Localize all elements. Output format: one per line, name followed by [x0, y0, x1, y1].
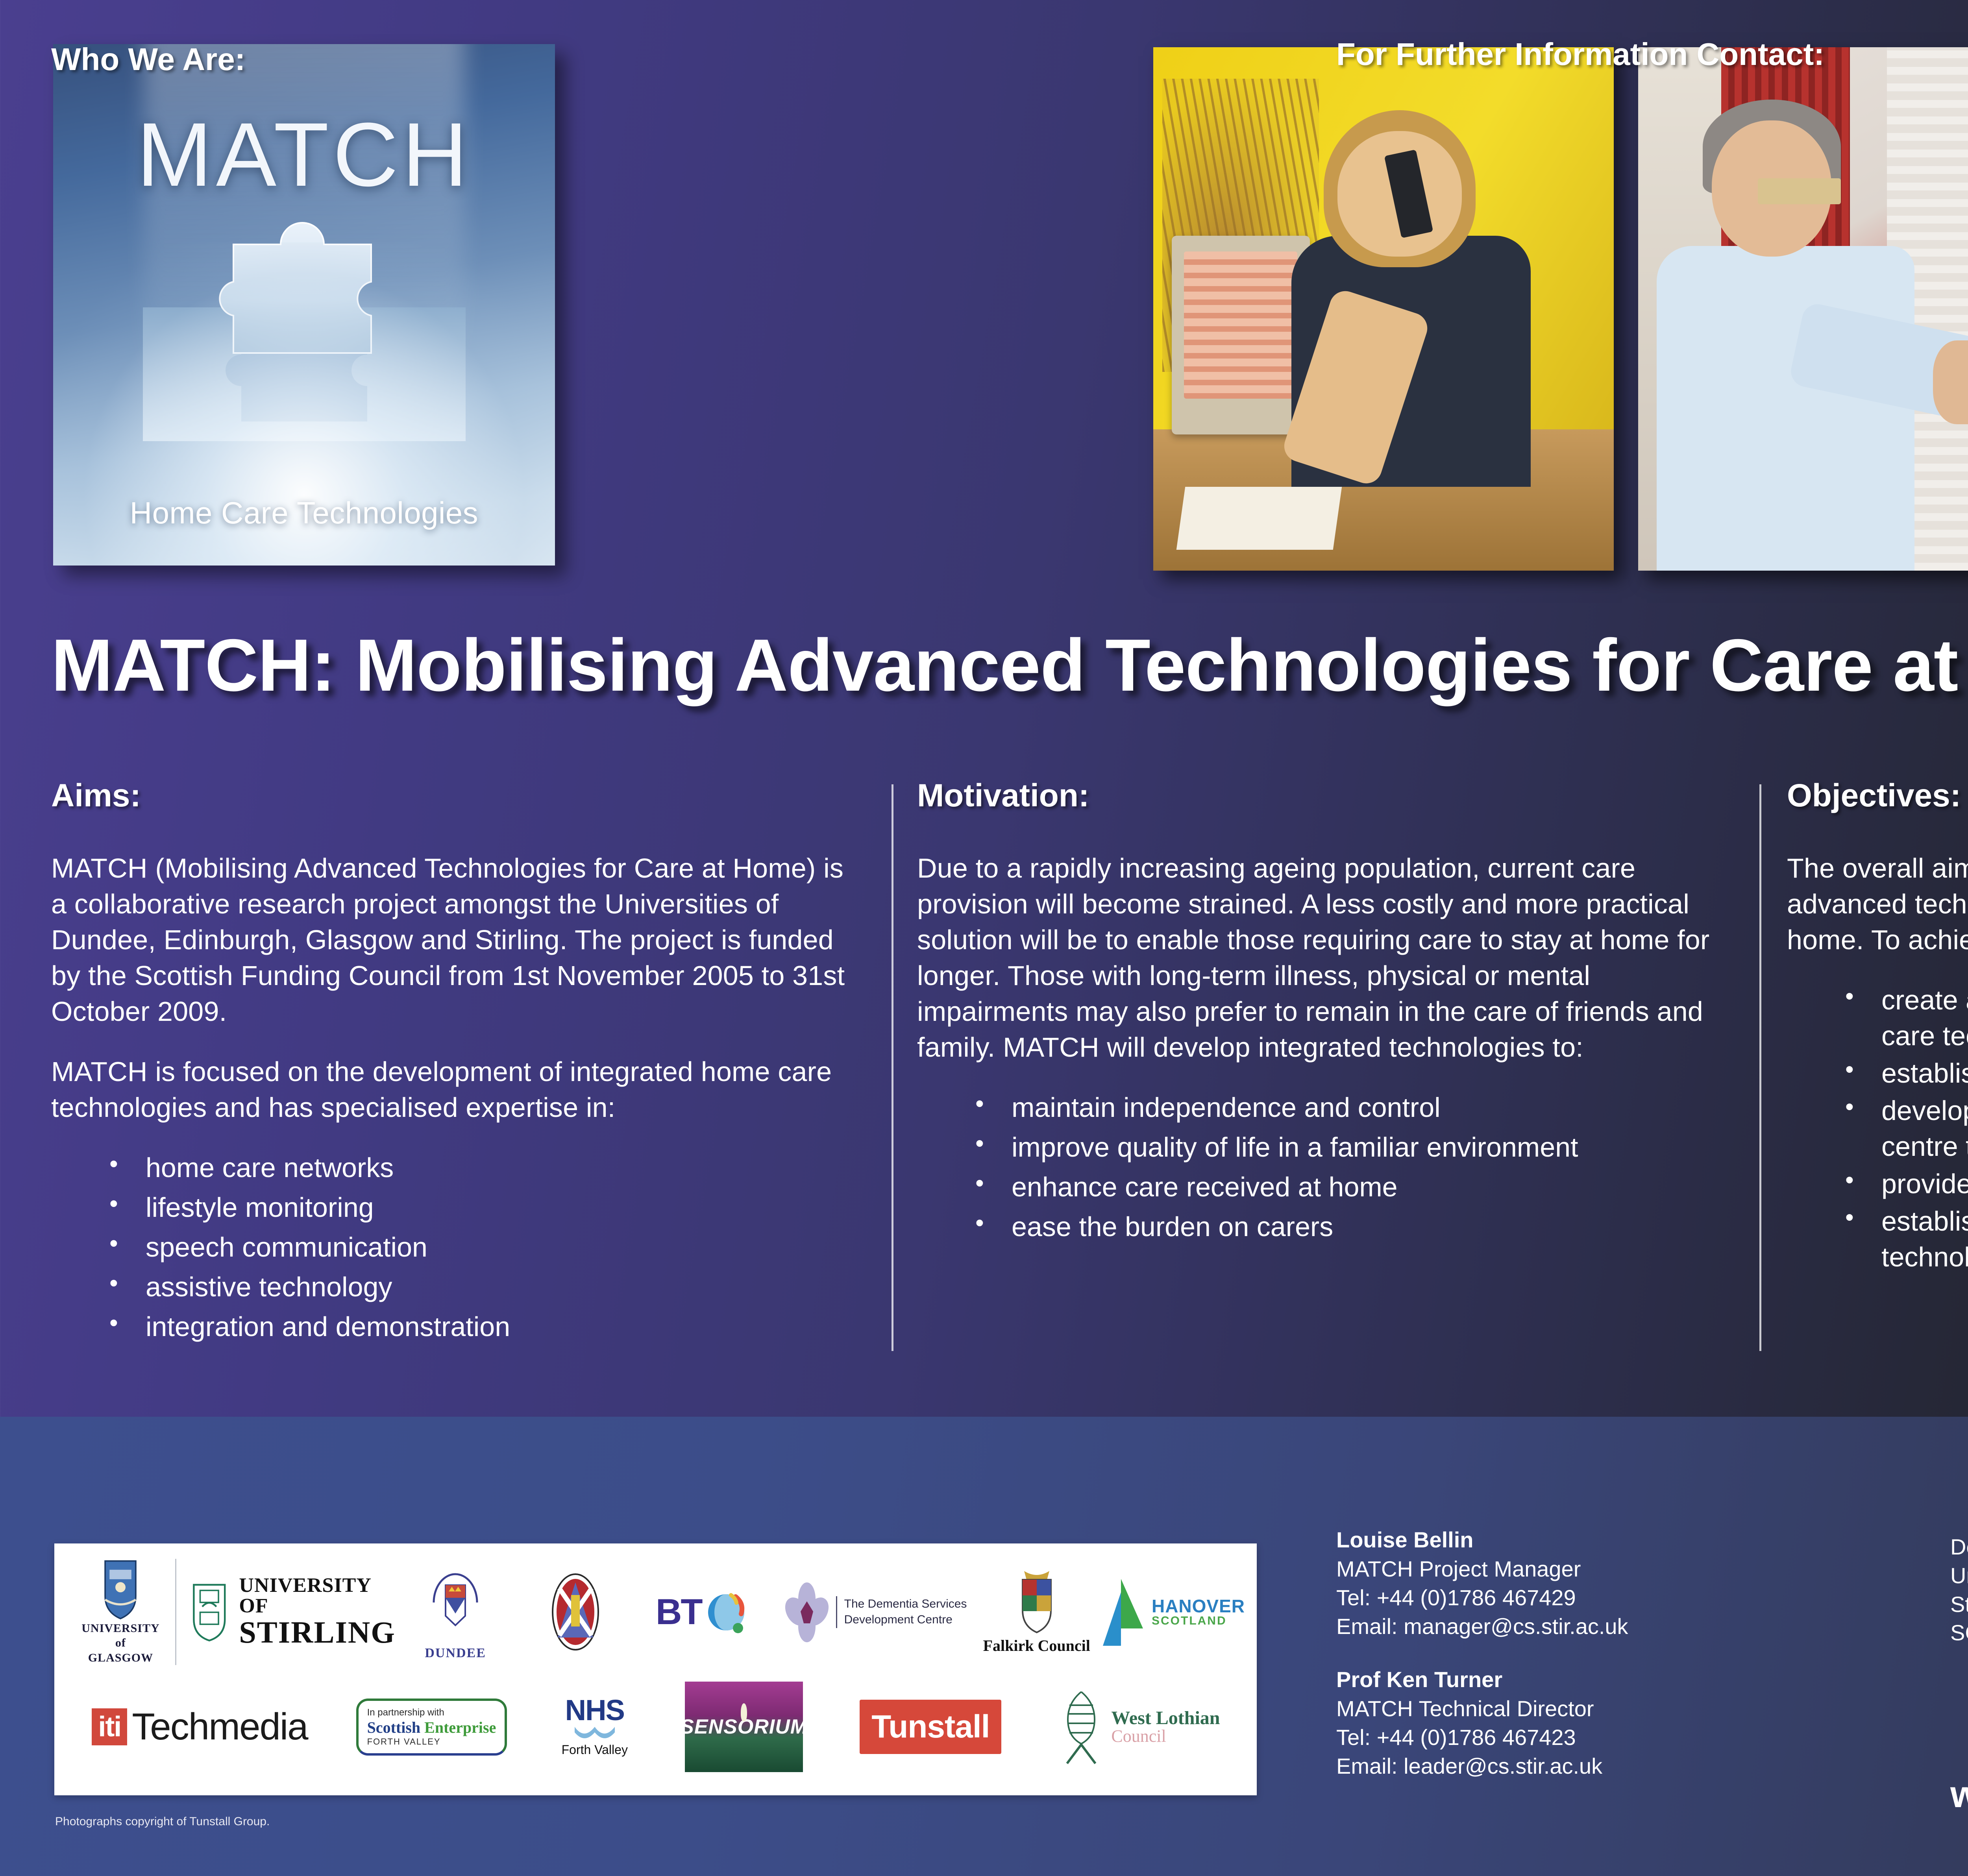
objectives-bullet-list: create a Scottish centre of excellence i…	[1787, 982, 1968, 1275]
contact-person-2: Prof Ken Turner MATCH Technical Director…	[1336, 1667, 1919, 1780]
contact-2-role: MATCH Technical Director	[1336, 1695, 1919, 1723]
university-of-stirling-logo: UNIVERSITY OF STIRLING	[175, 1559, 396, 1665]
dsdc-line-1: The Dementia Services	[844, 1596, 967, 1612]
hanover-line-1: HANOVER	[1152, 1597, 1245, 1615]
bt-globe-icon	[702, 1586, 753, 1638]
objectives-bullet: develop specialised laboratories and a d…	[1787, 1093, 1968, 1164]
contact-2-email[interactable]: Email: leader@cs.stir.ac.uk	[1336, 1752, 1919, 1781]
project-website-url[interactable]: www.match-project.org.uk	[1950, 1773, 1968, 1816]
logo-title: MATCH	[53, 102, 555, 207]
column-divider-1	[892, 784, 893, 1351]
address-line-2: University of Stirling,	[1950, 1562, 1968, 1590]
address-line-1: Department of Computing Science and Math…	[1950, 1533, 1968, 1562]
photo-elderly-man-wall-unit	[1638, 47, 1968, 571]
se-line-1: In partnership with	[367, 1707, 496, 1718]
contact-1-name: Louise Bellin	[1336, 1527, 1919, 1553]
aims-bullet: lifestyle monitoring	[51, 1190, 862, 1225]
photo-credit-text: Photographs copyright of Tunstall Group.	[55, 1815, 270, 1828]
objectives-paragraph-1: The overall aim is to develop an integra…	[1787, 850, 1968, 958]
glasgow-line-3: GLASGOW	[81, 1651, 159, 1665]
aims-bullet: integration and demonstration	[51, 1309, 862, 1345]
objectives-bullet: establish care models for appropriate an…	[1787, 1203, 1968, 1275]
aims-bullet: home care networks	[51, 1150, 862, 1186]
university-of-edinburgh-logo	[515, 1559, 635, 1665]
aims-heading: Aims:	[51, 777, 862, 814]
partner-logos-row-2: iti Techmedia In partnership with Scotti…	[66, 1674, 1245, 1780]
poster-canvas: MATCH Home Care Technologies	[0, 0, 1968, 1876]
se-line-3: Enterprise	[424, 1719, 496, 1736]
contact-people: Louise Bellin MATCH Project Manager Tel:…	[1336, 1527, 1919, 1807]
bt-wordmark: BT	[656, 1591, 702, 1633]
nhs-sub: Forth Valley	[562, 1743, 628, 1757]
dsdc-line-2: Development Centre	[844, 1612, 967, 1628]
falkirk-crest-icon	[1013, 1569, 1060, 1636]
university-of-dundee-logo: DUNDEE	[396, 1559, 516, 1665]
motivation-heading: Motivation:	[917, 777, 1734, 814]
hanover-mark-icon	[1097, 1577, 1148, 1647]
dundee-crest-icon	[426, 1563, 485, 1646]
contact-1-email[interactable]: Email: manager@cs.stir.ac.uk	[1336, 1612, 1919, 1641]
photo-strip	[1153, 47, 1968, 571]
tunstall-wordmark: Tunstall	[871, 1709, 990, 1745]
scottish-enterprise-forth-valley-logo: In partnership with Scottish Enterprise …	[333, 1674, 530, 1780]
falkirk-label: Falkirk Council	[983, 1636, 1090, 1655]
se-line-2: Scottish	[367, 1719, 421, 1736]
column-aims: Aims: MATCH (Mobilising Advanced Technol…	[51, 777, 862, 1349]
tunstall-logo: Tunstall	[829, 1674, 1033, 1780]
hanover-scotland-logo: HANOVER SCOTLAND	[1097, 1559, 1245, 1665]
who-we-are-heading: Who We Are:	[51, 41, 245, 78]
iti-techmedia-logo: iti Techmedia	[66, 1674, 333, 1780]
glasgow-line-1: UNIVERSITY	[81, 1621, 159, 1636]
nhs-wave-icon	[573, 1724, 616, 1743]
contact-heading: For Further Information Contact:	[1336, 36, 1824, 72]
se-line-4: FORTH VALLEY	[367, 1737, 496, 1747]
west-lothian-mark-icon	[1058, 1689, 1105, 1764]
contact-1-role: MATCH Project Manager	[1336, 1555, 1919, 1584]
stirling-line-1: UNIVERSITY OF	[239, 1575, 395, 1616]
university-of-glasgow-logo: UNIVERSITY of GLASGOW	[66, 1559, 175, 1665]
hanover-line-2: SCOTLAND	[1152, 1615, 1245, 1627]
nhs-wordmark: NHS	[565, 1697, 624, 1724]
motivation-paragraph-1: Due to a rapidly increasing ageing popul…	[917, 850, 1734, 1065]
aims-paragraph-2: MATCH is focused on the development of i…	[51, 1054, 862, 1126]
partner-logos-row-1: UNIVERSITY of GLASGOW UNIVERSITY OF STIR…	[66, 1559, 1245, 1665]
iti-badge: iti	[92, 1708, 127, 1745]
contact-person-1: Louise Bellin MATCH Project Manager Tel:…	[1336, 1527, 1919, 1641]
match-logo-panel: MATCH Home Care Technologies	[53, 44, 555, 566]
wlc-line-2: Council	[1111, 1728, 1220, 1745]
contact-2-tel: Tel: +44 (0)1786 467423	[1336, 1723, 1919, 1752]
aims-bullet-list: home care networks lifestyle monitoring …	[51, 1150, 862, 1345]
hero-area: MATCH Home Care Technologies	[0, 0, 1968, 614]
nhs-forth-valley-logo: NHS Forth Valley	[530, 1674, 659, 1780]
glasgow-line-2: of	[81, 1636, 159, 1651]
address-line-4: SCOTLAND	[1950, 1619, 1968, 1647]
bt-logo: BT	[635, 1559, 773, 1665]
stirling-crest-icon	[188, 1578, 231, 1645]
dementia-services-development-centre-logo: The Dementia Services Development Centre	[773, 1559, 977, 1665]
content-columns: Aims: MATCH (Mobilising Advanced Technol…	[0, 777, 1968, 1391]
dsdc-flower-icon	[783, 1578, 830, 1645]
motivation-bullet-list: maintain independence and control improv…	[917, 1090, 1734, 1245]
poster-main-title: MATCH: Mobilising Advanced Technologies …	[51, 623, 1968, 708]
motivation-bullet: improve quality of life in a familiar en…	[917, 1129, 1734, 1165]
column-divider-2	[1759, 784, 1761, 1351]
aims-bullet: speech communication	[51, 1229, 862, 1265]
column-objectives: Objectives: The overall aim is to develo…	[1787, 777, 1968, 1277]
motivation-bullet: enhance care received at home	[917, 1169, 1734, 1205]
contact-2-name: Prof Ken Turner	[1336, 1667, 1919, 1692]
contact-1-tel: Tel: +44 (0)1786 467429	[1336, 1584, 1919, 1612]
objectives-bullet: provide specialised training and technic…	[1787, 1166, 1968, 1202]
dundee-line-2: DUNDEE	[425, 1646, 486, 1661]
address-line-3: Stirling FK9 4LA,	[1950, 1590, 1968, 1619]
partner-logos-panel: UNIVERSITY of GLASGOW UNIVERSITY OF STIR…	[54, 1543, 1257, 1795]
motivation-bullet: maintain independence and control	[917, 1090, 1734, 1126]
glasgow-crest-icon	[97, 1559, 144, 1621]
objectives-heading: Objectives:	[1787, 777, 1968, 814]
stirling-line-2: STIRLING	[239, 1616, 395, 1649]
objectives-bullet: establish relevant networks and integrat…	[1787, 1055, 1968, 1091]
logo-subtitle: Home Care Technologies	[53, 495, 555, 531]
techmedia-wordmark: Techmedia	[132, 1705, 307, 1748]
column-motivation: Motivation: Due to a rapidly increasing …	[917, 777, 1734, 1249]
sensorium-logo: SENSORIUM	[659, 1674, 828, 1780]
west-lothian-council-logo: West Lothian Council	[1033, 1674, 1245, 1780]
objectives-bullet: create a Scottish centre of excellence i…	[1787, 982, 1968, 1054]
motivation-bullet: ease the burden on carers	[917, 1209, 1734, 1245]
contact-address: Department of Computing Science and Math…	[1950, 1533, 1968, 1647]
falkirk-council-logo: Falkirk Council	[977, 1559, 1097, 1665]
wlc-line-1: West Lothian	[1111, 1709, 1220, 1728]
aims-bullet: assistive technology	[51, 1269, 862, 1305]
aims-paragraph-1: MATCH (Mobilising Advanced Technologies …	[51, 850, 862, 1029]
photo-nurse-on-telephone	[1153, 47, 1614, 571]
edinburgh-crest-icon	[546, 1571, 605, 1653]
